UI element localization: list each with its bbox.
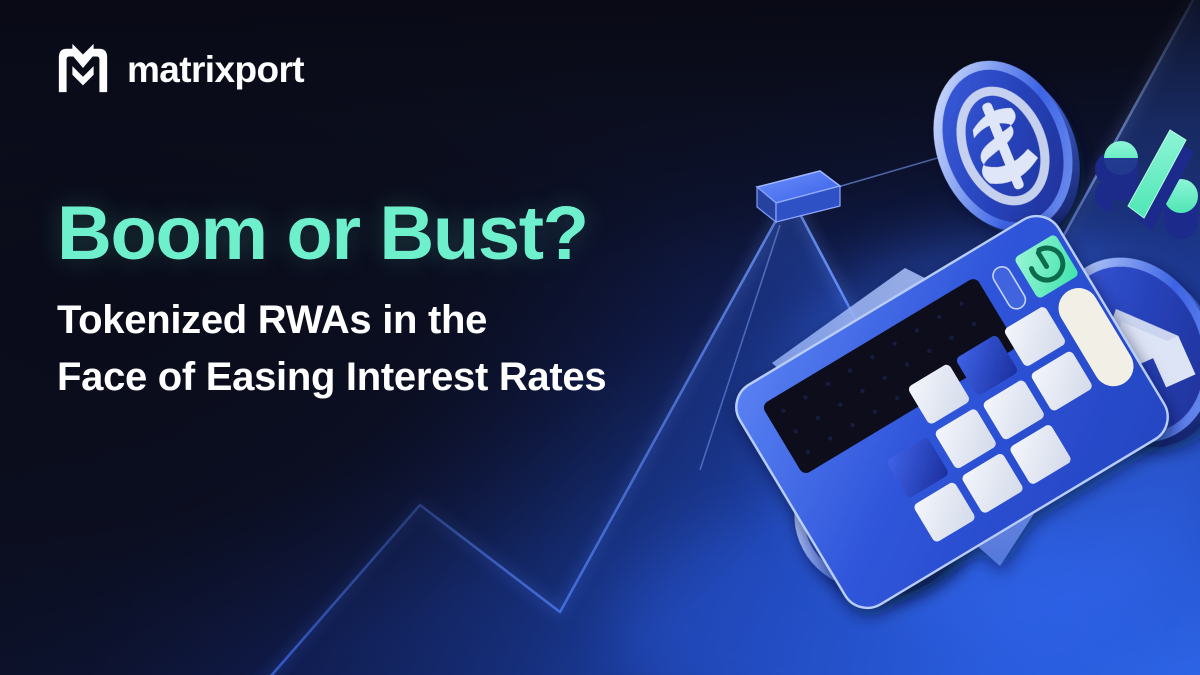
subtitle-line-2: Face of Easing Interest Rates — [57, 349, 606, 406]
brand-name: matrixport — [127, 51, 304, 88]
subtitle-line-1: Tokenized RWAs in the — [57, 292, 606, 349]
hero-copy: Boom or Bust? Tokenized RWAs in the Face… — [57, 196, 606, 406]
matrixport-logo-icon — [55, 40, 111, 98]
brand-logo[interactable]: matrixport — [55, 40, 304, 98]
banner-canvas: matrixport Boom or Bust? Tokenized RWAs … — [0, 0, 1200, 675]
page-title: Boom or Bust? — [57, 196, 606, 272]
